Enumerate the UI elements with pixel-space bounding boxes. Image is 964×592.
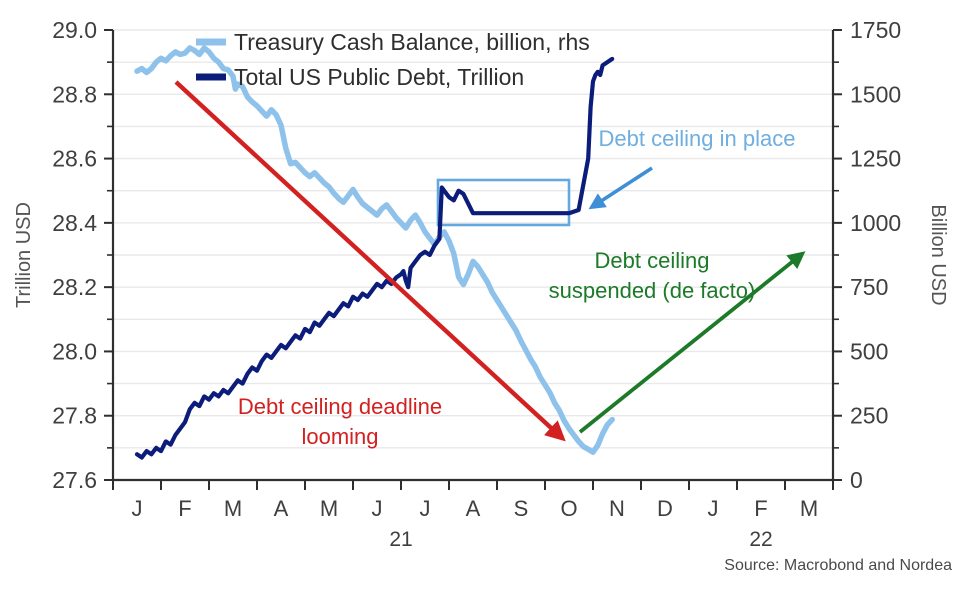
right-tick-label: 500 xyxy=(850,338,888,364)
x-axis-month-label: J xyxy=(132,496,143,521)
x-axis-year-label: 22 xyxy=(749,528,772,551)
left-tick-label: 28.2 xyxy=(52,274,97,300)
x-axis-month-label: J xyxy=(420,496,431,521)
x-axis-month-label: A xyxy=(466,496,481,521)
left-tick-label: 28.0 xyxy=(52,338,97,364)
right-axis-ticks: 02505007501000125015001750 xyxy=(833,17,901,493)
x-axis-ticks: JFMAMJJASONDJFM xyxy=(113,480,833,521)
right-tick-label: 1500 xyxy=(850,81,901,107)
x-axis-year-label: 21 xyxy=(389,528,412,551)
x-axis-month-label: D xyxy=(657,496,673,521)
x-axis-month-label: N xyxy=(609,496,625,521)
debt-ceiling-deadline-label-line1: Debt ceiling deadline xyxy=(238,394,442,419)
left-tick-label: 29.0 xyxy=(52,17,97,43)
x-axis-month-label: J xyxy=(708,496,719,521)
x-axis-year-labels: 2122 xyxy=(389,528,772,551)
debt-ceiling-in-place-label: Debt ceiling in place xyxy=(599,126,796,151)
right-axis-title: Billion USD xyxy=(927,204,949,305)
right-tick-label: 1250 xyxy=(850,146,901,172)
debt-ceiling-suspended-label-line1: Debt ceiling xyxy=(595,248,710,273)
legend-label-treasury-cash-balance: Treasury Cash Balance, billion, rhs xyxy=(234,29,590,55)
chart-container: 27.627.828.028.228.428.628.829.0 0250500… xyxy=(0,0,964,592)
right-tick-label: 1750 xyxy=(850,17,901,43)
x-axis-month-label: S xyxy=(514,496,529,521)
right-tick-label: 750 xyxy=(850,274,888,300)
x-axis-month-label: M xyxy=(224,496,242,521)
left-tick-label: 28.4 xyxy=(52,210,97,236)
right-tick-label: 1000 xyxy=(850,210,901,236)
x-axis-month-label: M xyxy=(800,496,818,521)
x-axis-month-label: M xyxy=(320,496,338,521)
left-tick-label: 28.6 xyxy=(52,146,97,172)
left-tick-label: 28.8 xyxy=(52,81,97,107)
left-axis-ticks: 27.627.828.028.228.428.628.829.0 xyxy=(52,17,113,493)
chart-canvas: 27.627.828.028.228.428.628.829.0 0250500… xyxy=(0,0,964,592)
debt-ceiling-suspended-label-line2: suspended (de facto) xyxy=(549,278,756,303)
source-attribution: Source: Macrobond and Nordea xyxy=(724,557,952,574)
left-tick-label: 27.8 xyxy=(52,403,97,429)
right-tick-label: 250 xyxy=(850,403,888,429)
legend-label-total-us-public-debt: Total US Public Debt, Trillion xyxy=(234,64,524,90)
right-tick-label: 0 xyxy=(850,467,863,493)
x-axis-month-label: A xyxy=(274,496,289,521)
left-tick-label: 27.6 xyxy=(52,467,97,493)
x-axis-month-label: J xyxy=(372,496,383,521)
debt-ceiling-deadline-label-line2: looming xyxy=(301,424,378,449)
x-axis-month-label: O xyxy=(560,496,577,521)
left-axis-title: Trillion USD xyxy=(13,202,35,308)
x-axis-month-label: F xyxy=(178,496,191,521)
x-axis-month-label: F xyxy=(754,496,767,521)
